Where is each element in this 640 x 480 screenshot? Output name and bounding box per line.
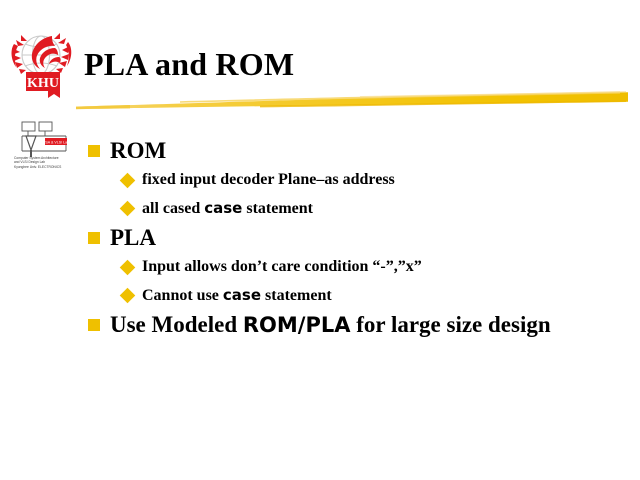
square-bullet-icon bbox=[88, 232, 100, 244]
square-bullet-icon bbox=[88, 319, 100, 331]
title-underline-brushstroke bbox=[60, 86, 636, 112]
lab-caption: Computer System Architecture and VLSI De… bbox=[14, 156, 84, 169]
bullet-use-modeled-post: for large size design bbox=[351, 312, 551, 337]
bullet-pla-label: PLA bbox=[110, 225, 156, 250]
bullet-fixed-input-decoder: fixed input decoder Plane–as address bbox=[122, 166, 634, 194]
bullet-all-cased-pre: all cased bbox=[142, 200, 204, 217]
bullet-dont-care-condition-label: Input allows don’t care condition “-”,”x… bbox=[142, 258, 422, 275]
diamond-bullet-icon bbox=[120, 201, 136, 217]
csa-lab-logo: CSA & VLSI Lab Computer System Architect… bbox=[14, 120, 86, 182]
lab-caption-line-3: Kyunghee Univ. ELECTRONICS bbox=[14, 165, 84, 169]
square-bullet-icon bbox=[88, 145, 100, 157]
bullet-rom: ROM bbox=[86, 136, 634, 166]
bullet-cannot-use-case: Cannot use case statement bbox=[122, 281, 634, 310]
bullet-cannot-use-post: statement bbox=[261, 287, 332, 304]
bullet-use-modeled-pre: Use Modeled bbox=[110, 312, 243, 337]
lab-badge-label: CSA & VLSI Lab bbox=[43, 140, 69, 144]
bullet-all-cased-post: statement bbox=[242, 200, 313, 217]
slide-title: PLA and ROM bbox=[84, 46, 294, 83]
diamond-bullet-icon bbox=[120, 173, 136, 189]
diamond-bullet-icon bbox=[120, 288, 136, 304]
bullet-cannot-use-pre: Cannot use bbox=[142, 287, 223, 304]
bullet-fixed-input-decoder-label: fixed input decoder Plane–as address bbox=[142, 171, 395, 188]
bullet-all-cased-case: all cased case statement bbox=[122, 194, 634, 223]
keyword-rom-pla: ROM/PLA bbox=[243, 313, 351, 337]
diamond-bullet-icon bbox=[120, 260, 136, 276]
keyword-case: case bbox=[223, 286, 261, 304]
slide-body: ROM fixed input decoder Plane–as address… bbox=[86, 136, 634, 340]
bullet-dont-care-condition: Input allows don’t care condition “-”,”x… bbox=[122, 253, 634, 281]
khu-wordmark: KHU bbox=[27, 76, 59, 91]
bullet-pla: PLA bbox=[86, 223, 634, 253]
bullet-rom-label: ROM bbox=[110, 138, 166, 163]
keyword-case: case bbox=[204, 199, 242, 217]
bullet-use-modeled: Use Modeled ROM/PLA for large size desig… bbox=[86, 310, 634, 340]
